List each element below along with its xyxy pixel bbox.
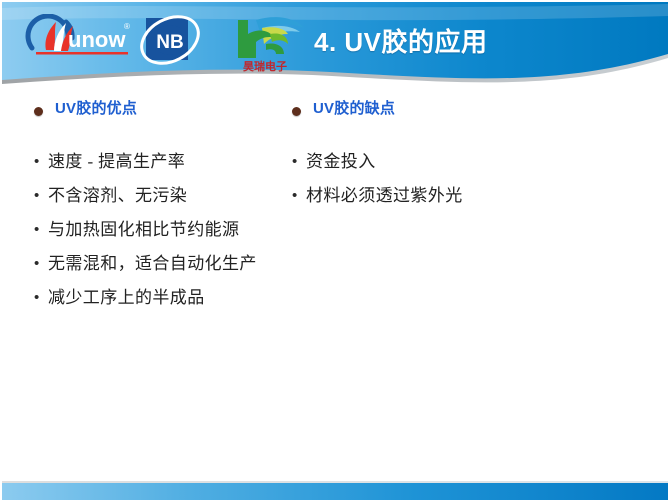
disadvantages-heading: UV胶的缺点 bbox=[292, 100, 592, 119]
list-item: • 材料必须透过紫外光 bbox=[292, 183, 592, 209]
heading-bullet-icon bbox=[292, 107, 301, 116]
presentation-slide: unow ® NB 昊瑞电子 4 bbox=[0, 0, 670, 502]
column-advantages: UV胶的优点 • 速度 - 提高生产率 • 不含溶剂、无污染 • 与加热固化相比… bbox=[34, 100, 294, 319]
slide-title: 4. UV胶的应用 bbox=[314, 22, 488, 59]
list-bullet-icon: • bbox=[34, 217, 48, 243]
disadvantages-list: • 资金投入 • 材料必须透过紫外光 bbox=[292, 149, 592, 209]
list-bullet-icon: • bbox=[34, 149, 48, 175]
list-item: • 与加热固化相比节约能源 bbox=[34, 217, 294, 243]
haorui-caption: 昊瑞电子 bbox=[243, 59, 287, 73]
list-item: • 速度 - 提高生产率 bbox=[34, 149, 294, 175]
list-item-text: 无需混和，适合自动化生产 bbox=[48, 251, 257, 277]
list-item: • 不含溶剂、无污染 bbox=[34, 183, 294, 209]
list-item-text: 减少工序上的半成品 bbox=[48, 285, 205, 311]
list-item: • 无需混和，适合自动化生产 bbox=[34, 251, 294, 277]
haorui-logo: 昊瑞电子 bbox=[222, 12, 308, 74]
list-bullet-icon: • bbox=[292, 183, 306, 209]
slide-content: UV胶的优点 • 速度 - 提高生产率 • 不含溶剂、无污染 • 与加热固化相比… bbox=[0, 100, 670, 480]
list-item: • 减少工序上的半成品 bbox=[34, 285, 294, 311]
list-item: • 资金投入 bbox=[292, 149, 592, 175]
advantages-list: • 速度 - 提高生产率 • 不含溶剂、无污染 • 与加热固化相比节约能源 • … bbox=[34, 149, 294, 311]
list-bullet-icon: • bbox=[34, 251, 48, 277]
list-item-text: 不含溶剂、无污染 bbox=[48, 183, 187, 209]
nb-logo: NB bbox=[136, 12, 204, 68]
sunow-logo: unow ® bbox=[24, 14, 134, 62]
column-disadvantages: UV胶的缺点 • 资金投入 • 材料必须透过紫外光 bbox=[292, 100, 592, 217]
list-item-text: 与加热固化相比节约能源 bbox=[48, 217, 239, 243]
list-item-text: 资金投入 bbox=[306, 149, 376, 175]
list-bullet-icon: • bbox=[34, 183, 48, 209]
heading-bullet-icon bbox=[34, 107, 43, 116]
registered-mark-icon: ® bbox=[124, 22, 130, 31]
list-item-text: 材料必须透过紫外光 bbox=[306, 183, 463, 209]
disadvantages-heading-label: UV胶的缺点 bbox=[313, 100, 395, 119]
advantages-heading-label: UV胶的优点 bbox=[55, 100, 137, 119]
list-bullet-icon: • bbox=[34, 285, 48, 311]
sunow-wordmark: unow bbox=[68, 27, 126, 52]
nb-wordmark: NB bbox=[156, 32, 183, 53]
list-item-text: 速度 - 提高生产率 bbox=[48, 149, 185, 175]
bottom-accent-bar bbox=[2, 483, 668, 500]
advantages-heading: UV胶的优点 bbox=[34, 100, 294, 119]
list-bullet-icon: • bbox=[292, 149, 306, 175]
